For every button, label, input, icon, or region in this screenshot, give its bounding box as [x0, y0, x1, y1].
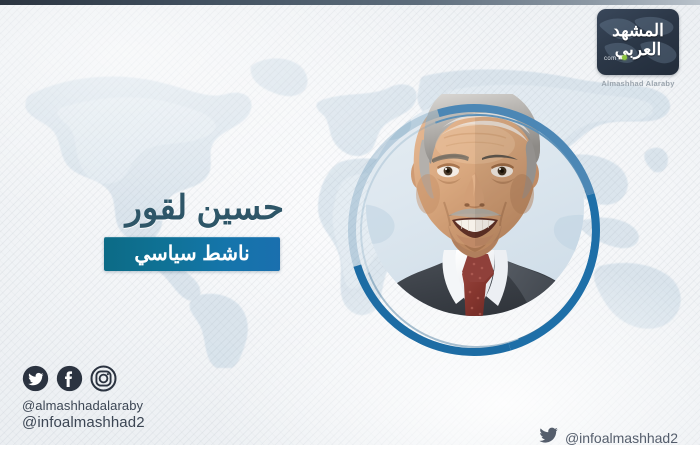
bottom-white-strip [0, 445, 700, 459]
person-role-badge: ناشط سياسي [104, 237, 280, 271]
logo-green-dot [622, 55, 627, 60]
portrait-ring-outer [304, 60, 645, 401]
logo-arabic-text: المشهد العربي [597, 21, 679, 59]
logo-arabic-line-1: المشهد [612, 21, 664, 40]
brand-logo: المشهد العربي com Almashhad Alaraby [590, 9, 686, 88]
social-block: @almashhadalaraby @infoalmashhad2 [22, 365, 145, 431]
graphic-card: المشهد العربي com Almashhad Alaraby [0, 0, 700, 459]
top-accent-strip [0, 0, 700, 5]
logo-com-text: com [604, 56, 617, 62]
facebook-icon[interactable] [56, 365, 83, 392]
twitter-icon [539, 425, 559, 445]
portrait-container [344, 96, 606, 358]
person-role-label: ناشط سياسي [134, 244, 249, 264]
instagram-icon[interactable] [90, 365, 117, 392]
social-handle-primary[interactable]: @almashhadalaraby [22, 397, 145, 414]
logo-caption: Almashhad Alaraby [590, 79, 686, 88]
person-name: حسين لقور [34, 188, 284, 228]
watermark-handle: @infoalmashhad2 [565, 432, 678, 445]
social-handle-secondary[interactable]: @infoalmashhad2 [22, 414, 145, 431]
logo-badge: المشهد العربي com [597, 9, 679, 75]
watermark: @infoalmashhad2 [539, 425, 678, 445]
twitter-icon[interactable] [22, 365, 49, 392]
social-icon-row [22, 365, 145, 392]
